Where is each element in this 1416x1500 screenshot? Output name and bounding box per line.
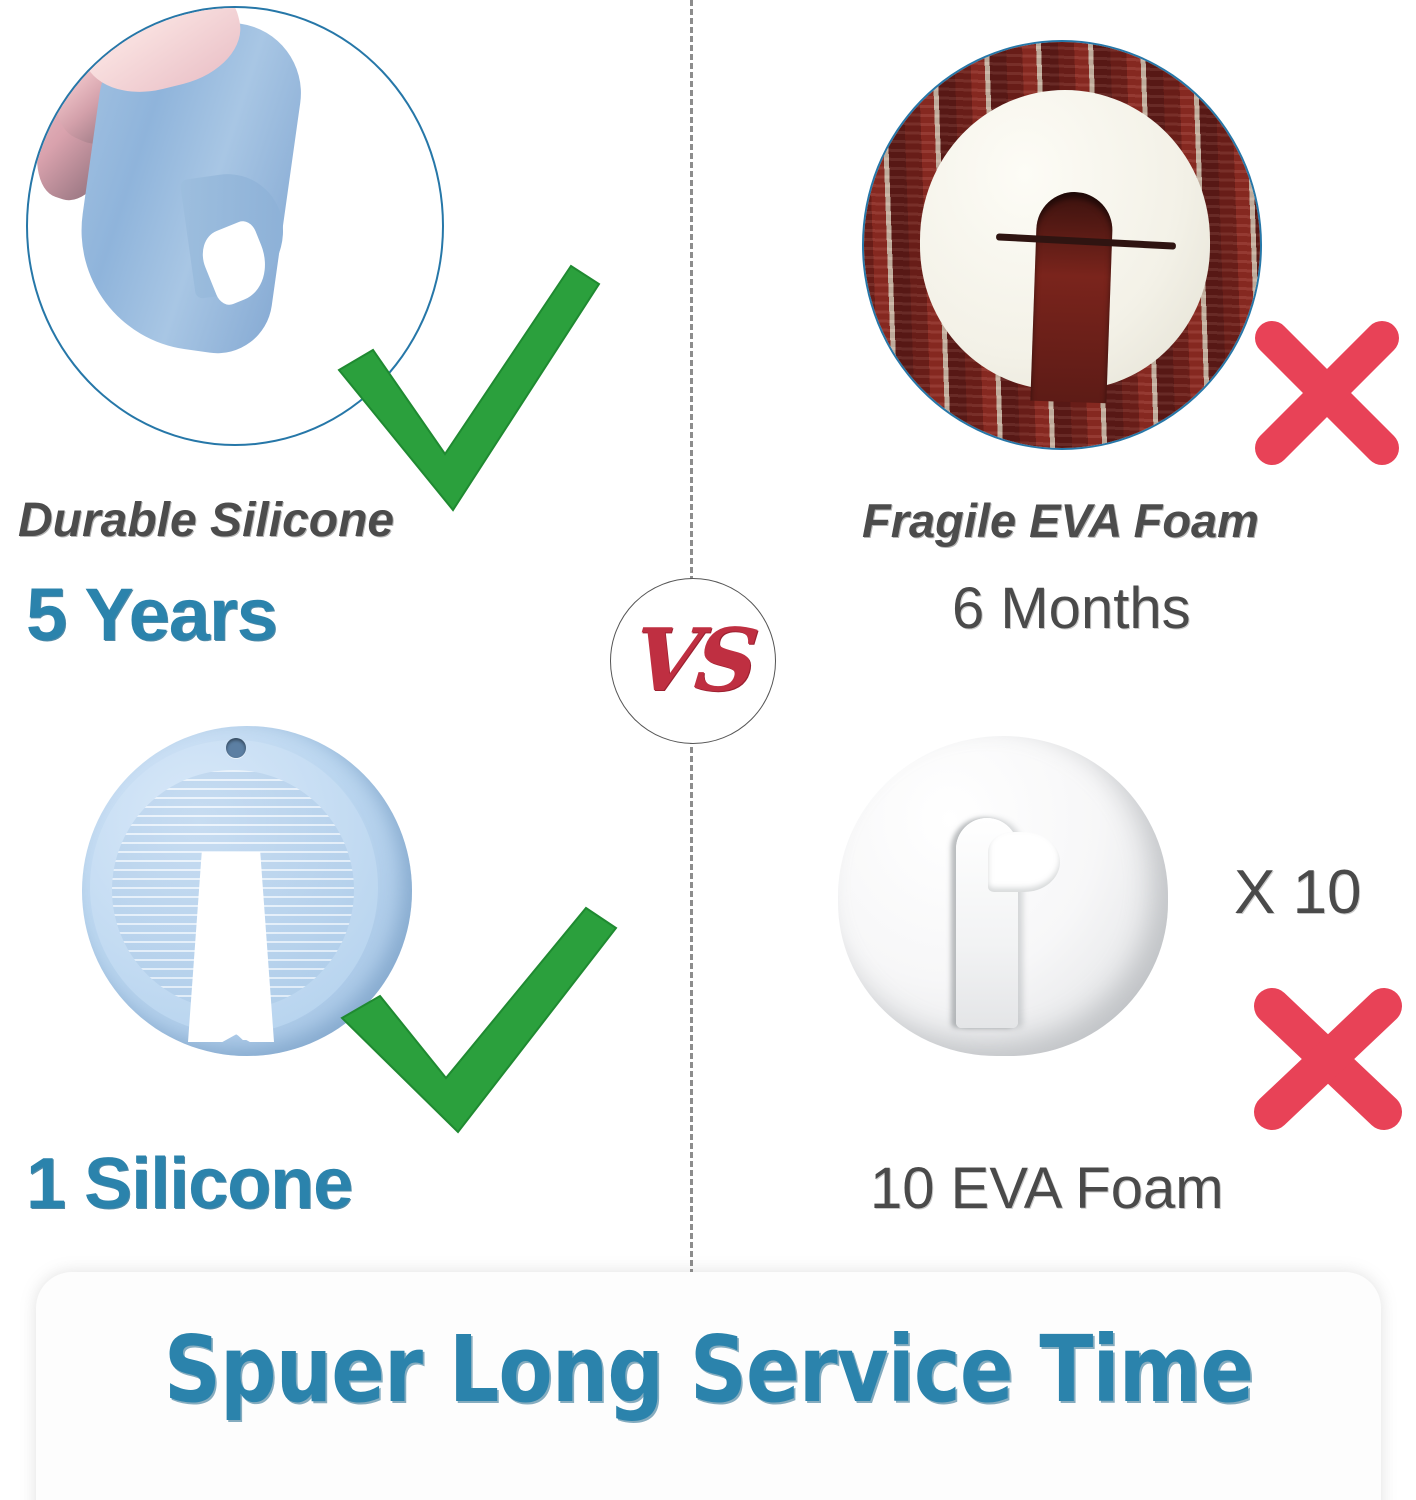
green-check-icon — [336, 892, 621, 1137]
photo-eva-foam-broken — [862, 40, 1262, 450]
label-one-silicone: 1 Silicone — [26, 1148, 352, 1220]
eva-foam-slot — [1030, 191, 1113, 404]
bottom-banner: Spuer Long Service Time — [36, 1272, 1381, 1500]
versus-label: VS — [629, 618, 757, 704]
silicone-disc-slot-inner — [194, 854, 268, 1040]
product-eva-foam-guard — [838, 736, 1168, 1056]
silicone-disc-hang-hole — [226, 738, 246, 758]
banner-title: Spuer Long Service Time — [130, 1324, 1287, 1416]
comparison-infographic: VS Durable Silicone 5 Years Fragile EVA … — [0, 0, 1416, 1500]
red-x-icon — [1252, 318, 1402, 468]
green-check-icon — [333, 258, 603, 518]
label-five-years: 5 Years — [26, 578, 277, 652]
label-ten-eva-foam: 10 EVA Foam — [870, 1160, 1224, 1218]
red-x-icon — [1248, 984, 1408, 1134]
eva-foam-body-notch — [988, 832, 1060, 892]
label-fragile-eva-foam: Fragile EVA Foam — [862, 497, 1259, 544]
versus-badge: VS — [610, 578, 776, 744]
label-six-months: 6 Months — [952, 580, 1191, 638]
label-quantity-multiplier: X 10 — [1234, 862, 1362, 924]
